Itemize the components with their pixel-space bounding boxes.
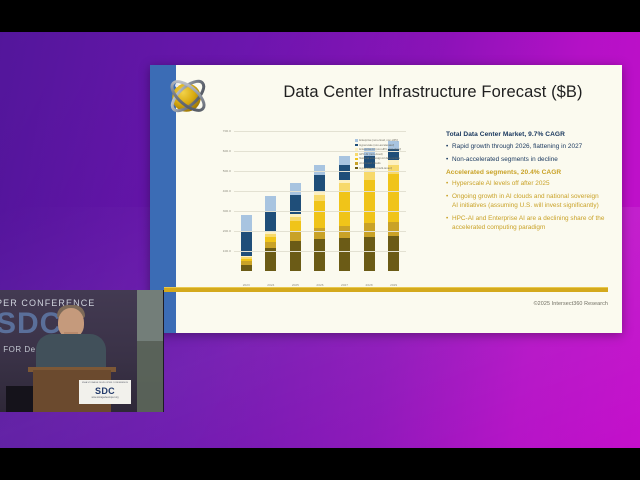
chart-bar-2025: [290, 183, 301, 271]
slide-text-panel: Total Data Center Market, 9.7% CAGR •Rap…: [446, 131, 606, 237]
chart-bar-2024: [265, 196, 276, 271]
heading-total-market: Total Data Center Market, 9.7% CAGR: [446, 131, 606, 138]
chart-bar-segment: [339, 191, 350, 226]
sdc-sign-logo-text: SDC: [79, 387, 131, 396]
chart-bar-segment: [241, 232, 252, 256]
bullet-item: •Hyperscale AI levels off after 2025: [446, 180, 606, 189]
bullet-item: •Non-accelerated segments in decline: [446, 156, 606, 165]
chart-legend-item: AI-focused clouds: [355, 162, 417, 165]
chart-bar-segment: [290, 241, 301, 271]
chart-legend-label: Hyperscale (non-accelerated): [359, 144, 394, 147]
chart-legend-item: Hyperscale AI (multi-tenant): [355, 167, 417, 170]
chart-legend-swatch: [355, 158, 358, 161]
chart-legend-swatch: [355, 144, 358, 147]
chart-bar-segment: [364, 172, 375, 180]
speaker-video-inset: PER CONFERENCE SDC s FOR De SNIA STORAGE…: [0, 290, 164, 412]
chart-legend-item: Enterprise (non-cloud, non-HPC): [355, 139, 417, 142]
chart-bar-2026: [314, 165, 325, 271]
chart-y-tick-label: 700.0: [223, 129, 231, 133]
chart-y-tick-label: 400.0: [223, 189, 231, 193]
chart-bar-2023: [241, 215, 252, 271]
chart-y-tick-label: 100.0: [223, 249, 231, 253]
chart-gridline: [234, 191, 406, 192]
chart-bar-segment: [364, 237, 375, 271]
sdc-sign-url: www.storagedeveloper.org: [79, 397, 131, 399]
pip-side-panel-upper: [137, 290, 163, 341]
chart-legend-swatch: [355, 148, 358, 151]
podium-sdc-sign: SNIA STORAGE DEVELOPER CONFERENCE SDC ww…: [79, 380, 131, 404]
chart-legend-item: HPC-AI (non-cloud): [355, 153, 417, 156]
chart-bar-segment: [290, 183, 301, 195]
chart-y-tick-label: 500.0: [223, 169, 231, 173]
podium: SNIA STORAGE DEVELOPER CONFERENCE SDC ww…: [33, 370, 111, 412]
banner-line-3: s FOR De: [0, 345, 36, 354]
chart-legend-item: Hyperscale (non-accelerated): [355, 144, 417, 147]
chart-bar-segment: [339, 238, 350, 271]
chart-bar-segment: [388, 174, 399, 222]
letterbox-bar-top: [0, 0, 640, 32]
bullet-text: Rapid growth through 2026, flattening in…: [452, 143, 582, 152]
chart-legend-swatch: [355, 167, 358, 170]
chart-bar-segment: [314, 175, 325, 191]
chart-legend-swatch: [355, 162, 358, 165]
chart-bar-segment: [314, 201, 325, 228]
chart-y-tick-label: 600.0: [223, 149, 231, 153]
bullet-text: HPC-AI and Enterprise AI are a declining…: [452, 215, 606, 232]
intersect360-sphere-logo-icon: [164, 72, 212, 120]
copyright-notice: ©2025 Intersect360 Research: [534, 301, 608, 307]
chart-bar-segment: [388, 236, 399, 271]
chart-bar-segment: [388, 222, 399, 236]
chart-bar-segment: [241, 265, 252, 271]
chart-legend-label: Enterprise AI (non-HPC, non-cloud): [359, 148, 401, 151]
chart-bar-segment: [290, 232, 301, 241]
bullet-item: •Rapid growth through 2026, flattening i…: [446, 143, 606, 152]
heading-accelerated-segments: Accelerated segments, 20.4% CAGR: [446, 169, 606, 176]
chart-legend-swatch: [355, 153, 358, 156]
bullet-text: Hyperscale AI levels off after 2025: [452, 180, 550, 189]
chart-gridline: [234, 231, 406, 232]
chart-legend-swatch: [355, 139, 358, 142]
chart-legend-label: National sovereign AI data centers: [359, 157, 400, 160]
chart-bar-segment: [314, 239, 325, 271]
bullet-list-accelerated: •Hyperscale AI levels off after 2025•Ong…: [446, 180, 606, 232]
chart-legend-item: National sovereign AI data centers: [355, 157, 417, 160]
chart-y-tick-label: 200.0: [223, 229, 231, 233]
bullet-text: Non-accelerated segments in decline: [452, 156, 558, 165]
chart-bar-segment: [339, 156, 350, 165]
sdc-sign-top-text: SNIA STORAGE DEVELOPER CONFERENCE: [79, 382, 131, 384]
chart-bar-segment: [339, 165, 350, 180]
chart-bar-segment: [314, 228, 325, 239]
bullet-item: •HPC-AI and Enterprise AI are a declinin…: [446, 215, 606, 232]
bullet-item: •Ongoing growth in AI clouds and nationa…: [446, 193, 606, 210]
chart-y-tick-label: 300.0: [223, 209, 231, 213]
presentation-slide: Data Center Infrastructure Forecast ($B)…: [150, 65, 622, 333]
chart-bar-segment: [241, 215, 252, 232]
chart-bar-segment: [265, 196, 276, 212]
chart-gridline: [234, 211, 406, 212]
chart-legend-label: Enterprise (non-cloud, non-HPC): [359, 139, 398, 142]
chart-gridline: [234, 131, 406, 132]
chart-bar-segment: [364, 180, 375, 223]
chart-legend-label: HPC-AI (non-cloud): [359, 153, 382, 156]
chart-legend: Enterprise (non-cloud, non-HPC)Hyperscal…: [355, 139, 417, 171]
bullet-text: Ongoing growth in AI clouds and national…: [452, 193, 606, 210]
chart-legend-label: Hyperscale AI (multi-tenant): [359, 167, 392, 170]
chart-gridline: [234, 251, 406, 252]
chart-legend-label: AI-focused clouds: [359, 162, 380, 165]
chart-bar-segment: [265, 211, 276, 232]
bullet-list-total: •Rapid growth through 2026, flattening i…: [446, 143, 606, 165]
slide-gold-divider: [164, 287, 608, 292]
chart-legend-item: Enterprise AI (non-HPC, non-cloud): [355, 148, 417, 151]
chart-bar-2027: [339, 156, 350, 271]
chart-bar-segment: [339, 183, 350, 190]
video-player-frame: Data Center Infrastructure Forecast ($B)…: [0, 0, 640, 480]
letterbox-bar-bottom: [0, 448, 640, 480]
slide-title: Data Center Infrastructure Forecast ($B): [258, 83, 608, 102]
